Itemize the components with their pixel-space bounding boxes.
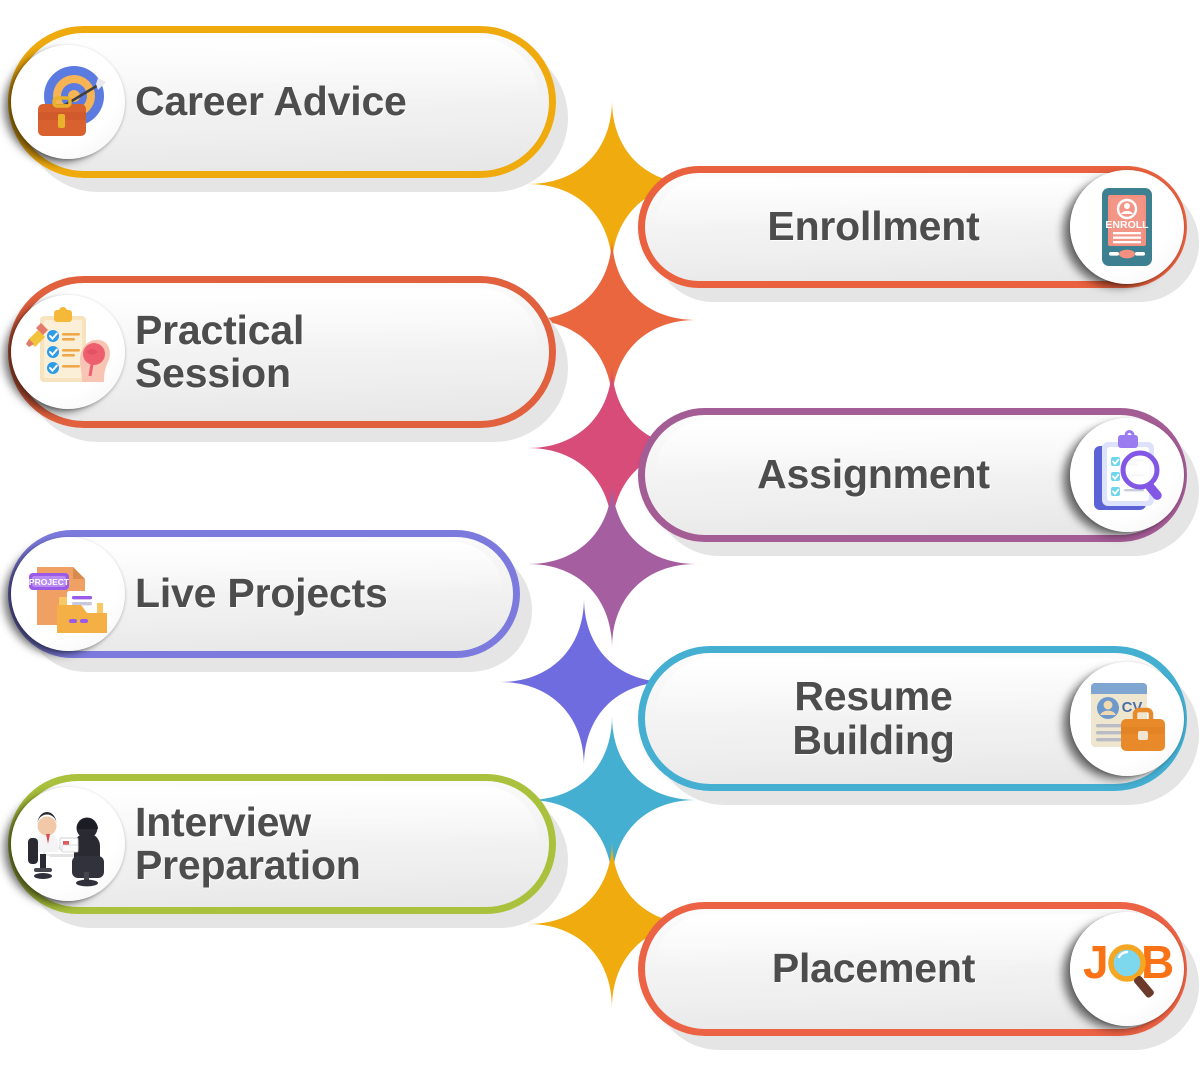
step-practical-session[interactable]: Practical Session	[8, 276, 556, 428]
infographic-canvas: Career Advice Enrollment ENROLL	[0, 0, 1203, 1067]
step-label: Resume Building	[697, 675, 1050, 762]
step-live-projects[interactable]: PROJECT Live Projects	[8, 530, 520, 658]
step-label: Practical Session	[135, 309, 304, 396]
step-placement[interactable]: Placement J B	[638, 902, 1187, 1036]
job-icon-text-j: J	[1083, 936, 1109, 988]
job-icon-text-b: B	[1141, 936, 1173, 988]
step-assignment[interactable]: Assignment	[638, 408, 1187, 542]
step-label: Assignment	[697, 453, 1050, 496]
step-label: Live Projects	[135, 572, 388, 615]
step-interview-preparation[interactable]: Interview Preparation	[8, 774, 556, 914]
cv-icon-text: CV	[1122, 699, 1143, 716]
clipboard-brain-icon	[11, 295, 125, 409]
interview-desk-icon	[11, 787, 125, 901]
step-label: Enrollment	[697, 205, 1050, 248]
project-icon-text: PROJECT	[29, 577, 70, 587]
step-label: Placement	[697, 947, 1050, 990]
step-label: Interview Preparation	[135, 801, 361, 888]
target-briefcase-icon	[11, 45, 125, 159]
enroll-icon-text: ENROLL	[1105, 219, 1149, 231]
step-label: Career Advice	[135, 80, 407, 123]
step-enrollment[interactable]: Enrollment ENROLL	[638, 166, 1187, 288]
cv-briefcase-icon: CV	[1070, 662, 1184, 776]
project-folder-icon: PROJECT	[11, 537, 125, 651]
job-search-icon: J B	[1070, 912, 1184, 1026]
step-resume-building[interactable]: Resume Building CV	[638, 646, 1187, 791]
step-career-advice[interactable]: Career Advice	[8, 26, 556, 178]
clipboard-magnifier-icon	[1070, 418, 1184, 532]
enroll-tablet-icon: ENROLL	[1070, 170, 1184, 284]
